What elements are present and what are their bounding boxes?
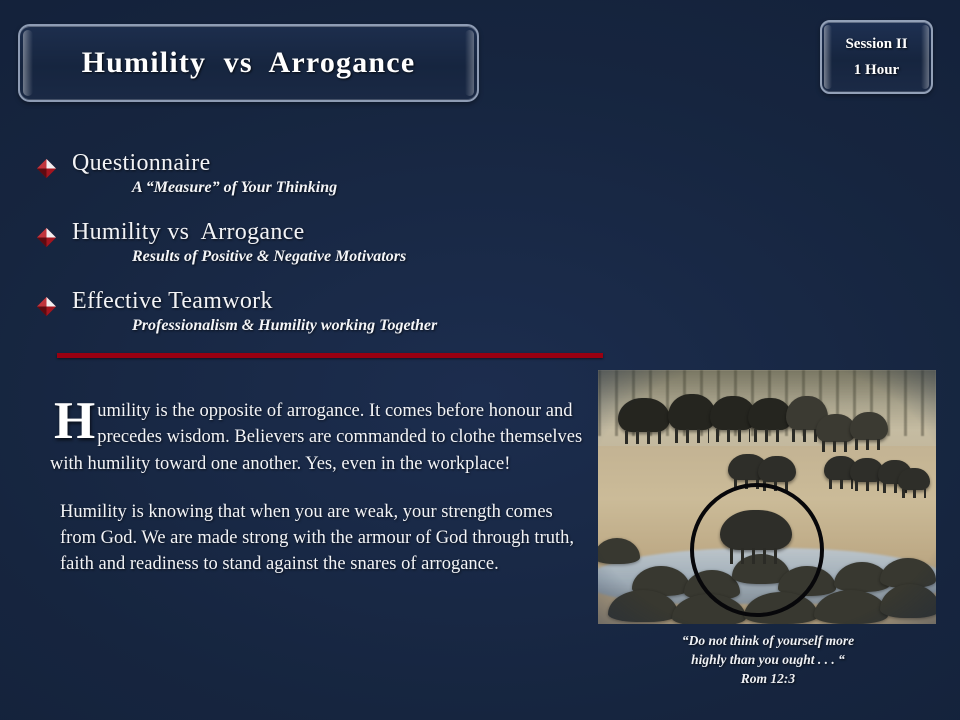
section-divider: [57, 353, 603, 358]
body-paragraph-2: Humility is knowing that when you are we…: [50, 499, 585, 578]
body-text-block: Humility is the opposite of arrogance. I…: [50, 398, 585, 578]
highlight-circle-annotation: [690, 483, 824, 617]
diamond-bullet-icon: [36, 227, 57, 248]
buffalo-silhouette: [618, 398, 670, 432]
agenda-item-heading: Humility vs Arrogance: [72, 219, 636, 246]
list-item: Humility vs Arrogance Results of Positiv…: [36, 219, 636, 267]
buffalo-silhouette: [758, 456, 796, 482]
list-item: Questionnaire A “Measure” of Your Thinki…: [36, 150, 636, 198]
caption-reference: Rom 12:3: [608, 669, 928, 688]
agenda-list: Questionnaire A “Measure” of Your Thinki…: [36, 150, 636, 357]
slide-canvas: Humility vs Arrogance Session II 1 Hour …: [0, 0, 960, 720]
list-item: Effective Teamwork Professionalism & Hum…: [36, 288, 636, 336]
buffalo-silhouette: [898, 468, 930, 490]
buffalo-silhouette: [850, 412, 888, 440]
body-paragraph-1-text: umility is the opposite of arrogance. It…: [50, 401, 582, 474]
caption-line-1: “Do not think of yourself more: [608, 631, 928, 650]
page-title: Humility vs Arrogance: [82, 46, 416, 80]
buffalo-photo-image: [598, 370, 936, 624]
scripture-caption: “Do not think of yourself more highly th…: [608, 631, 928, 688]
drop-cap-letter: H: [50, 398, 97, 443]
slide-title-box: Humility vs Arrogance: [18, 24, 479, 102]
agenda-item-subtext: Results of Positive & Negative Motivator…: [132, 247, 636, 267]
diamond-bullet-icon: [36, 158, 57, 179]
buffalo-photo: [598, 370, 936, 624]
buffalo-silhouette: [668, 394, 716, 430]
session-badge-line-2: 1 Hour: [854, 62, 899, 79]
diamond-bullet-icon: [36, 296, 57, 317]
session-badge: Session II 1 Hour: [820, 20, 933, 94]
caption-line-2: highly than you ought . . . “: [608, 650, 928, 669]
agenda-item-subtext: Professionalism & Humility working Toget…: [132, 316, 636, 336]
agenda-item-subtext: A “Measure” of Your Thinking: [132, 178, 636, 198]
agenda-item-heading: Questionnaire: [72, 150, 636, 177]
agenda-item-heading: Effective Teamwork: [72, 288, 636, 315]
body-paragraph-1: Humility is the opposite of arrogance. I…: [50, 398, 585, 477]
session-badge-line-1: Session II: [845, 36, 907, 53]
